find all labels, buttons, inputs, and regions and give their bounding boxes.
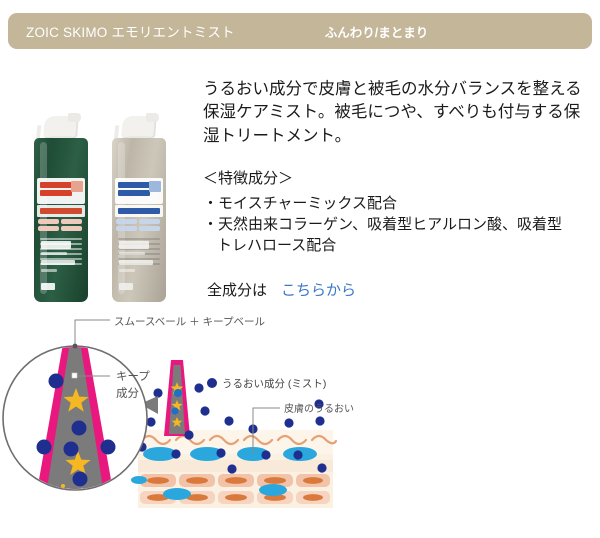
label-chips: [116, 219, 162, 231]
callout-leader-top: [75, 320, 110, 346]
legend-dot-icon: [207, 378, 217, 388]
label-tag: [71, 181, 83, 192]
spray-nozzle-icon: [146, 113, 159, 122]
feature-bullet: ・: [203, 216, 218, 233]
green-bottle: [34, 110, 88, 302]
callout-keep-label-line2: 成分: [116, 387, 139, 400]
hair-shaft-small: [164, 360, 190, 436]
bottle-body: [34, 138, 88, 302]
label-band: [115, 205, 163, 217]
label-headline: [115, 178, 163, 204]
feature-item: ・モイスチャーミックス配合: [203, 193, 588, 214]
legend-moisture-label: うるおい成分 (ミスト): [222, 378, 326, 390]
label-brand-skimo: [41, 241, 81, 272]
feature-bullet: ・: [203, 195, 218, 212]
label-chips: [38, 219, 84, 231]
mechanism-diagram: スムースベール ＋ キープベール キープ 成分 うるおい成分 (ミスト) 皮膚の…: [0, 308, 600, 538]
label-brand-skimo: [119, 241, 159, 272]
label-zoic-logo: [119, 283, 133, 290]
features-section: ＜特徴成分＞ ・モイスチャーミックス配合 ・天然由来コラーゲン、吸着型ヒアルロン…: [203, 168, 588, 256]
product-header-bar: ZOIC SKIMO エモリエントミスト ふんわり/まとまり: [8, 13, 592, 49]
product-subtitle: ふんわり/まとまり: [325, 22, 428, 41]
beige-bottle: [112, 110, 166, 302]
feature-item: ・天然由来コラーゲン、吸着型ヒアルロン酸、吸着型 トレハロース配合: [203, 214, 588, 257]
callout-anchor-top: [73, 344, 78, 349]
features-heading: ＜特徴成分＞: [203, 168, 588, 191]
magnified-view: [3, 338, 147, 508]
ingredients-label: 全成分は: [207, 282, 267, 299]
spray-nozzle-icon: [68, 113, 81, 122]
ingredients-row: 全成分はこちらから: [207, 279, 588, 300]
label-band: [37, 205, 85, 217]
product-photo: [28, 62, 188, 302]
lead-description: うるおい成分で皮膚と被毛の水分バランスを整える保湿ケアミスト。被毛につや、すべり…: [203, 78, 588, 148]
label-zoic-logo: [41, 283, 55, 290]
feature-text-continued: トレハロース配合: [203, 235, 588, 256]
bottle-body: [112, 138, 166, 302]
feature-text: 天然由来コラーゲン、吸着型ヒアルロン酸、吸着型: [218, 216, 562, 233]
callout-keep-label-line1: キープ: [116, 370, 150, 383]
feature-text: モイスチャーミックス配合: [218, 195, 397, 212]
product-title: ZOIC SKIMO エモリエントミスト: [26, 21, 235, 41]
product-copy: うるおい成分で皮膚と被毛の水分バランスを整える保湿ケアミスト。被毛につや、すべり…: [203, 78, 588, 300]
label-headline: [37, 178, 85, 204]
callout-top-label: スムースベール ＋ キープベール: [114, 316, 265, 328]
legend-skin-label: 皮膚のうるおい: [284, 402, 354, 415]
label-tag: [149, 181, 161, 192]
ingredients-link[interactable]: こちらから: [281, 282, 356, 299]
